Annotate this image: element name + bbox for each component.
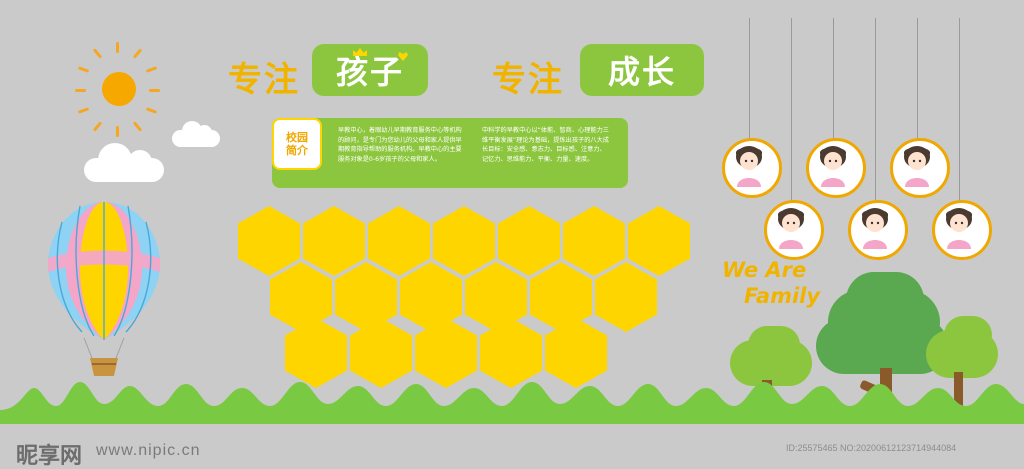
hanging-wire xyxy=(959,18,960,204)
hanging-wire xyxy=(833,18,834,142)
poster-canvas: 专注 孩子 专注 成长 校园 简介 早教中心，着眼幼儿早期教育服务中心等机构的顾… xyxy=(0,0,1024,469)
avatar[interactable] xyxy=(722,138,782,198)
hex-cell[interactable] xyxy=(530,262,592,332)
hex-cell[interactable] xyxy=(303,206,365,276)
intro-badge-line2: 简介 xyxy=(286,144,308,157)
intro-badge-line1: 校园 xyxy=(286,131,308,144)
title-left-1: 专注 xyxy=(228,52,300,101)
avatar[interactable] xyxy=(848,200,908,260)
intro-text-column-1: 早教中心，着眼幼儿早期教育服务中心等机构的顾问，是专门为您幼儿的父母和家人提供早… xyxy=(338,126,466,164)
intro-text-column-2: 中科学的早教中心以“体能、智商、心理能力三维平衡发展”理论为基础，提炼出孩子的八… xyxy=(482,126,610,164)
hot-air-balloon xyxy=(42,200,166,385)
title-pill-2: 成长 xyxy=(580,44,704,96)
hex-cell[interactable] xyxy=(628,206,690,276)
title-pill-1-label: 孩子 xyxy=(336,47,404,93)
title-pill-2-label: 成长 xyxy=(608,47,676,93)
avatar[interactable] xyxy=(932,200,992,260)
hex-cell[interactable] xyxy=(368,206,430,276)
hex-cell[interactable] xyxy=(335,262,397,332)
hanging-wire xyxy=(917,18,918,142)
hex-cell[interactable] xyxy=(433,206,495,276)
title-left-2: 专注 xyxy=(492,52,564,101)
hex-cell[interactable] xyxy=(465,262,527,332)
hex-cell[interactable] xyxy=(400,262,462,332)
family-caption-line1: We Are xyxy=(722,258,806,282)
hex-cell[interactable] xyxy=(270,262,332,332)
avatar[interactable] xyxy=(806,138,866,198)
hex-cell[interactable] xyxy=(595,262,657,332)
hanging-wire xyxy=(875,18,876,204)
watermark-logo: 昵享网 xyxy=(16,438,82,469)
title-pill-1: 孩子 xyxy=(312,44,428,96)
watermark-url[interactable]: www.nipic.cn xyxy=(96,442,200,460)
grass-strip xyxy=(0,374,1024,424)
hex-cell[interactable] xyxy=(563,206,625,276)
hanging-wire xyxy=(749,18,750,142)
hanging-wire xyxy=(791,18,792,204)
family-caption-line2: Family xyxy=(744,284,820,308)
watermark-id: ID:25575465 NO:20200612123714944084 xyxy=(786,443,956,453)
avatar[interactable] xyxy=(764,200,824,260)
avatar[interactable] xyxy=(890,138,950,198)
hex-cell[interactable] xyxy=(498,206,560,276)
hex-cell[interactable] xyxy=(238,206,300,276)
intro-badge: 校园 简介 xyxy=(272,118,322,170)
